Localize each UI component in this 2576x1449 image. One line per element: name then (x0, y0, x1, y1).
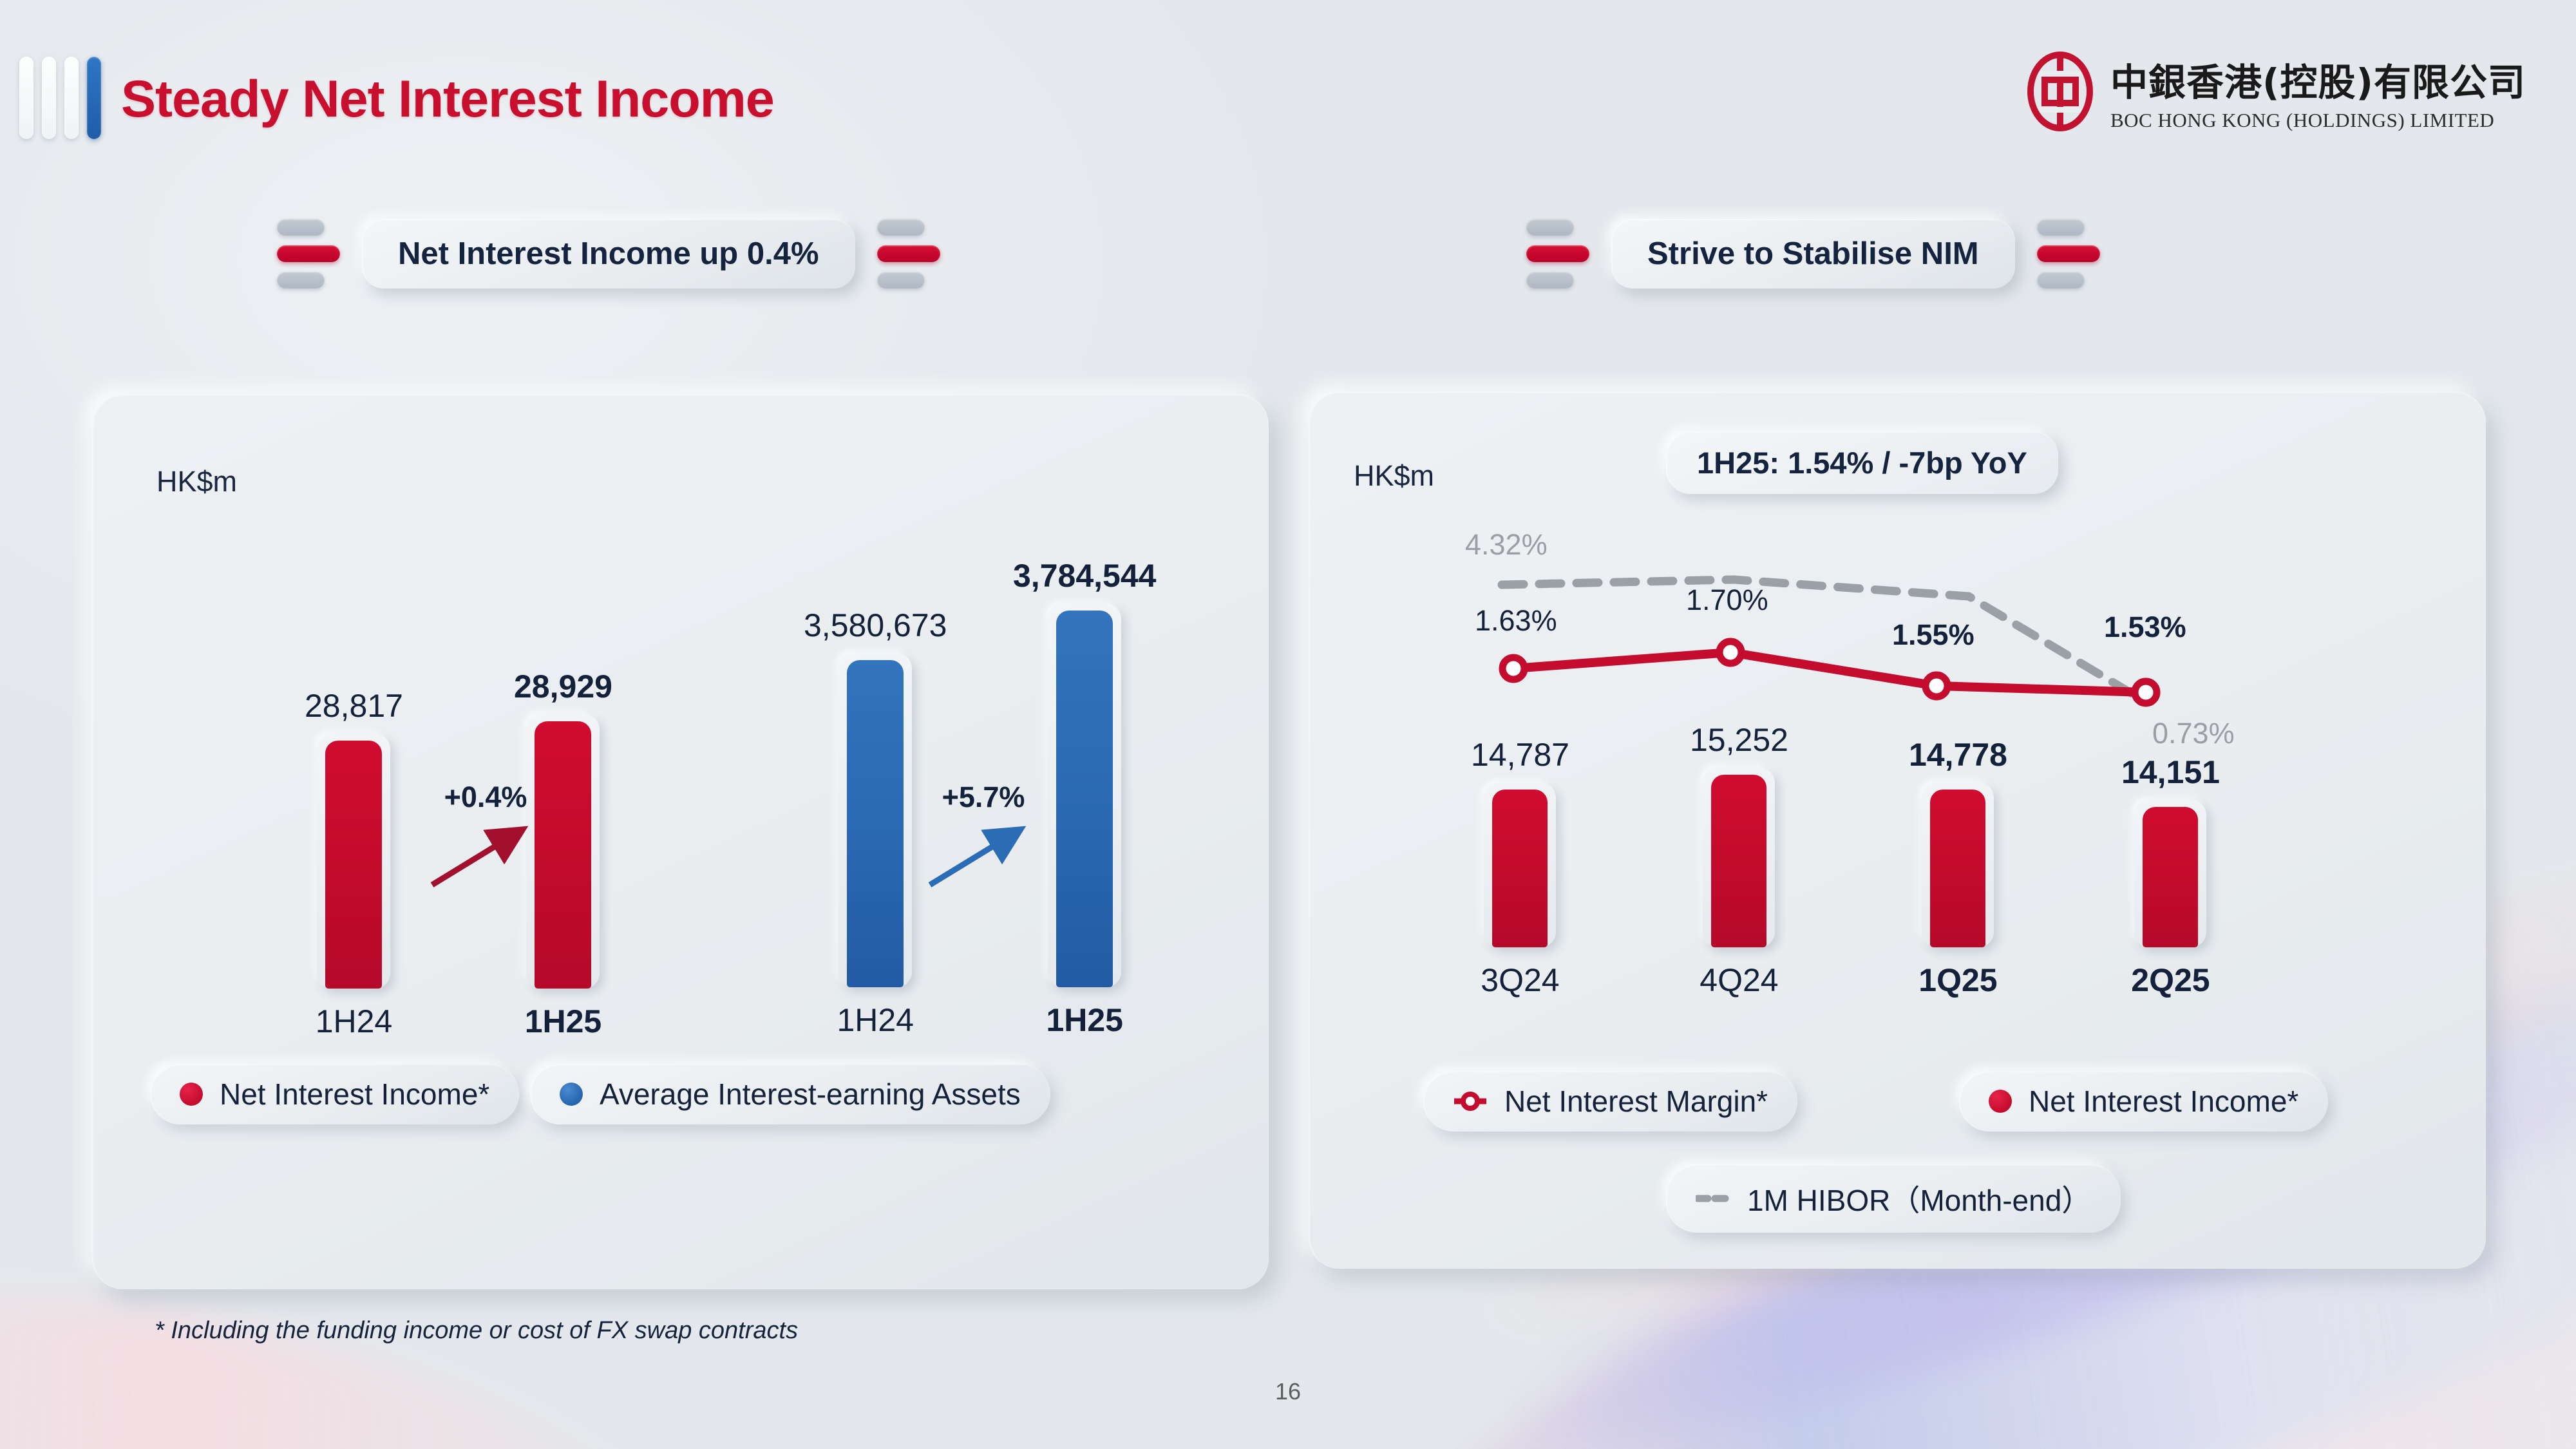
banner-left-label: Net Interest Income up 0.4% (362, 219, 855, 289)
banner-right-deco-right (2037, 219, 2100, 289)
deco-bar-red (1526, 245, 1589, 262)
bar-value: 3,580,673 (804, 607, 947, 644)
bar-category: 1H25 (1046, 1001, 1123, 1039)
bar-fill-blue (1056, 611, 1113, 987)
growth-label: +0.4% (427, 781, 544, 814)
hibor-end-label: 0.73% (2152, 717, 2235, 750)
banner-right-label: Strive to Stabilise NIM (1611, 219, 2015, 289)
legend-dot-red-icon (180, 1083, 203, 1106)
legend-label: Net Interest Income* (220, 1077, 489, 1112)
bar-fill-red (1711, 775, 1766, 947)
unit-label-left: HK$m (156, 465, 237, 498)
legend-1m-hibor[interactable]: 1M HIBOR（Month-end） (1666, 1164, 2121, 1233)
bar-value: 15,252 (1690, 721, 1788, 759)
bar-shell (1922, 782, 1994, 947)
bar-value: 3,784,544 (1013, 557, 1156, 594)
legend-net-interest-income[interactable]: Net Interest Income* (150, 1064, 519, 1124)
hibor-start-label: 4.32% (1465, 528, 1548, 562)
nim-hibor-line-chart (1309, 392, 2486, 791)
accent-bar-1 (19, 57, 33, 139)
bar-category: 1H24 (837, 1001, 914, 1039)
growth-arrow-red-icon (422, 814, 544, 898)
legend-average-interest-earning-assets[interactable]: Average Interest-earning Assets (530, 1064, 1050, 1124)
bar-value: 28,929 (514, 668, 612, 705)
bar-shell (838, 653, 912, 987)
footnote: * Including the funding income or cost o… (155, 1317, 798, 1345)
bar-category: 2Q25 (2131, 961, 2210, 999)
legend-label: Net Interest Margin* (1504, 1084, 1768, 1119)
chart-panel-left: HK$m 28,817 1H24 28,929 1H25 +0.4% (92, 394, 1269, 1289)
bar-value: 14,778 (1909, 736, 2007, 773)
legend-dot-red-icon (1989, 1090, 2012, 1113)
bar-category: 1H25 (525, 1003, 602, 1040)
deco-bar-grey-bottom (277, 272, 325, 289)
banner-left: Net Interest Income up 0.4% (277, 219, 940, 289)
slide-header: Steady Net Interest Income 中銀香港(控股)有限公司 … (0, 0, 2576, 187)
bar-category: 1Q25 (1918, 961, 1997, 999)
title-accent-bars (19, 57, 101, 139)
boc-logo-icon (2025, 52, 2095, 132)
hibor-dashed-line (1502, 580, 2133, 694)
deco-bar-grey-bottom (1526, 272, 1574, 289)
bar-shell (2134, 800, 2206, 947)
banner-right-deco-left (1526, 219, 1589, 289)
page-number: 16 (0, 1378, 2576, 1405)
deco-bar-grey-top (277, 219, 325, 236)
growth-arrow-blue-icon (920, 814, 1042, 898)
deco-bar-grey-top (2037, 219, 2085, 236)
banner-left-deco-right (877, 219, 940, 289)
accent-bar-3 (64, 57, 79, 139)
banner-left-deco-left (277, 219, 340, 289)
legend-label: 1M HIBOR（Month-end） (1747, 1177, 2091, 1220)
deco-bar-grey-bottom (2037, 272, 2085, 289)
banner-right: Strive to Stabilise NIM (1526, 219, 2100, 289)
bar-category: 1H24 (316, 1003, 393, 1040)
bar-shell (317, 734, 390, 989)
bar-value: 14,787 (1471, 736, 1569, 773)
nim-solid-line (1513, 652, 2146, 692)
deco-bar-red (2037, 245, 2100, 262)
nim-label-4q24: 1.70% (1686, 583, 1768, 617)
deco-bar-grey-top (877, 219, 925, 236)
bar-shell (1484, 782, 1556, 947)
legend-dot-blue-icon (560, 1083, 583, 1106)
bar-shell (1703, 768, 1775, 947)
slide-root: Steady Net Interest Income 中銀香港(控股)有限公司 … (0, 0, 2576, 1449)
growth-label: +5.7% (925, 781, 1042, 814)
logo-english-name: BOC HONG KONG (HOLDINGS) LIMITED (2110, 109, 2526, 132)
bar-value: 28,817 (305, 687, 403, 724)
page-title: Steady Net Interest Income (121, 70, 774, 129)
deco-bar-grey-top (1526, 219, 1574, 236)
legend-net-interest-income-right[interactable]: Net Interest Income* (1959, 1071, 2328, 1132)
accent-bar-blue (87, 57, 101, 139)
bar-group-nii-1h24: 28,817 1H24 (305, 687, 403, 1040)
deco-bar-red (877, 245, 940, 262)
bar-fill-blue (847, 660, 904, 987)
legend-net-interest-margin[interactable]: Net Interest Margin* (1423, 1071, 1797, 1132)
bar-group-4q24: 15,252 4Q24 (1690, 721, 1788, 999)
bar-fill-red (325, 741, 382, 989)
boc-logo: 中銀香港(控股)有限公司 BOC HONG KONG (HOLDINGS) LI… (2025, 52, 2526, 132)
bar-fill-red (1492, 790, 1548, 947)
accent-bar-2 (42, 57, 56, 139)
bar-category: 4Q24 (1700, 961, 1778, 999)
legend-hibor-dash-icon (1696, 1189, 1730, 1208)
bar-shell (1048, 603, 1121, 987)
bar-category: 3Q24 (1481, 961, 1559, 999)
legend-label: Average Interest-earning Assets (600, 1077, 1021, 1112)
growth-indicator-aiea: +5.7% (925, 781, 1042, 901)
nim-label-2q25: 1.53% (2104, 611, 2186, 644)
growth-indicator-nii: +0.4% (427, 781, 544, 901)
chart-panel-right: HK$m 1H25: 1.54% / -7bp YoY 4.32% 0.73% … (1309, 392, 2486, 1269)
legend-label: Net Interest Income* (2029, 1084, 2298, 1119)
bar-fill-red (1930, 790, 1985, 947)
bar-group-3q24: 14,787 3Q24 (1471, 736, 1569, 999)
nim-label-1q25: 1.55% (1892, 618, 1975, 652)
bar-fill-red (2143, 807, 2198, 947)
boc-logo-text: 中銀香港(控股)有限公司 BOC HONG KONG (HOLDINGS) LI… (2110, 52, 2526, 132)
nim-label-3q24: 1.63% (1475, 604, 1557, 638)
deco-bar-red (277, 245, 340, 262)
bar-group-1q25: 14,778 1Q25 (1909, 736, 2007, 999)
bar-value: 14,151 (2121, 753, 2220, 791)
legend-nim-marker-icon (1453, 1088, 1488, 1114)
bar-group-2q25: 14,151 2Q25 (2121, 753, 2220, 999)
logo-chinese-name: 中銀香港(控股)有限公司 (2110, 52, 2526, 106)
deco-bar-grey-bottom (877, 272, 925, 289)
